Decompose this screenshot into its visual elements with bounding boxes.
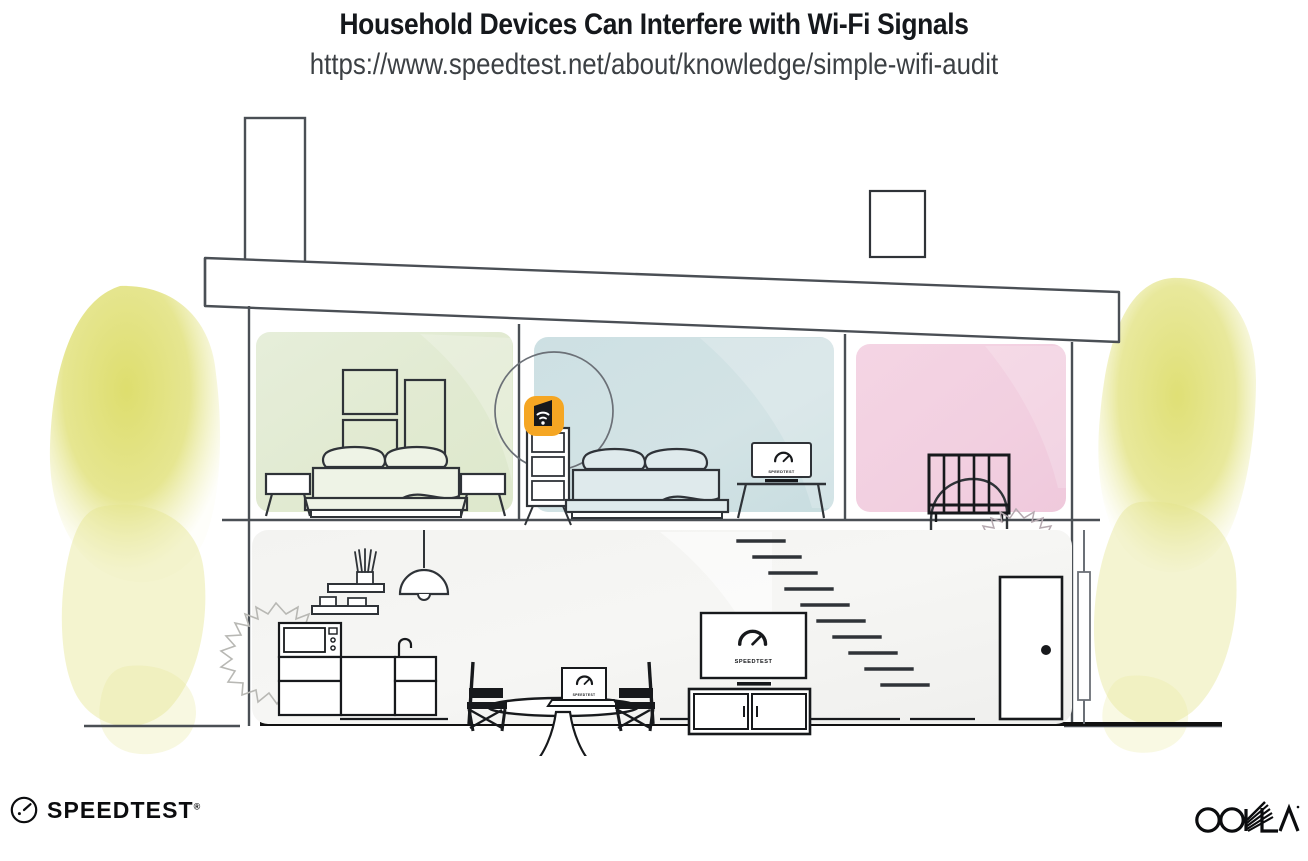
monitor-speedtest-label: SPEEDTEST	[768, 469, 795, 474]
speedtest-trademark: ®	[194, 801, 202, 811]
tv-speedtest-label: SPEEDTEST	[735, 659, 773, 665]
computer-monitor: SPEEDTEST	[752, 443, 811, 482]
infographic-page: Household Devices Can Interfere with Wi-…	[0, 0, 1308, 861]
house-illustration: SPEEDTEST	[0, 106, 1308, 756]
page-title: Household Devices Can Interfere with Wi-…	[78, 0, 1229, 42]
entry-door	[1000, 577, 1062, 719]
ookla-logo	[1192, 796, 1300, 841]
door-knob	[1041, 645, 1051, 655]
microwave	[279, 623, 341, 657]
exterior-post	[1078, 530, 1090, 724]
roof	[205, 258, 1119, 342]
ookla-trademark	[1297, 806, 1300, 809]
speedtest-gauge-icon	[10, 796, 38, 824]
bed	[566, 449, 728, 518]
wifi-router-icon	[524, 396, 564, 436]
room-living-kitchen: SPEEDTEST	[221, 530, 1072, 756]
laptop-speedtest-label: SPEEDTEST	[573, 693, 596, 697]
room-bedroom-blue: SPEEDTEST	[495, 337, 834, 525]
chimney	[245, 118, 305, 274]
speedtest-wordmark: SPEEDTEST®	[47, 797, 201, 824]
speedtest-logo: SPEEDTEST®	[10, 796, 201, 824]
source-url: https://www.speedtest.net/about/knowledg…	[92, 42, 1217, 82]
wall-frame	[870, 191, 925, 257]
room-bedroom-green	[256, 332, 513, 517]
foliage-right	[1094, 278, 1256, 753]
bed	[305, 447, 467, 517]
foliage-left	[50, 286, 220, 754]
header: Household Devices Can Interfere with Wi-…	[0, 0, 1308, 82]
footer: SPEEDTEST®	[0, 780, 1308, 860]
media-console	[689, 689, 810, 734]
ookla-k-glyph	[1246, 802, 1273, 831]
television: SPEEDTEST	[701, 613, 806, 686]
